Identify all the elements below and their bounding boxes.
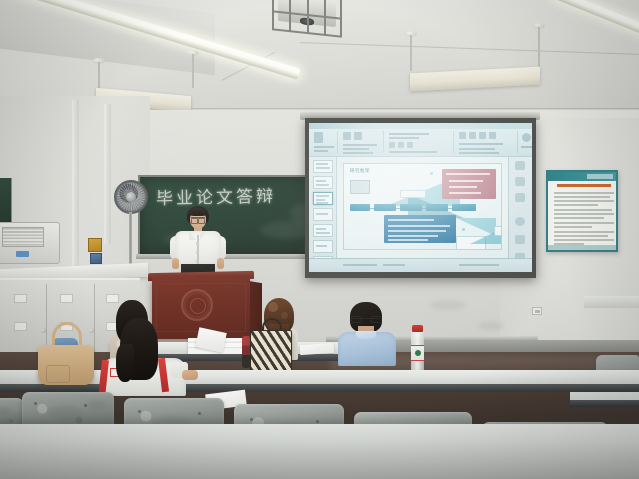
status-view-label bbox=[383, 264, 405, 266]
pane-icon-d[interactable] bbox=[515, 235, 525, 244]
glasses-lens-right bbox=[371, 316, 382, 323]
ribbon-group-font[interactable] bbox=[386, 131, 454, 153]
person-forearm bbox=[182, 370, 198, 380]
cabinet-handle[interactable] bbox=[89, 328, 94, 333]
powerpoint-status-bar bbox=[309, 258, 532, 272]
tan-handbag bbox=[38, 345, 94, 385]
front-desk bbox=[0, 424, 639, 479]
poster-text-line bbox=[554, 209, 612, 211]
poster-footer bbox=[548, 245, 616, 250]
right-desk-far bbox=[584, 296, 639, 308]
electrical-box-yellow bbox=[88, 238, 102, 252]
pane-icon-b[interactable] bbox=[515, 177, 525, 186]
glasses-lens-left bbox=[351, 316, 362, 323]
fan-hub bbox=[126, 192, 136, 202]
poster-text-line bbox=[554, 231, 614, 233]
slide-title: 研究框架 bbox=[350, 168, 370, 174]
poster-text-line bbox=[554, 213, 614, 215]
poster-text-line bbox=[554, 222, 614, 224]
light-hanger-rod bbox=[192, 54, 194, 88]
presenter-collar-left bbox=[189, 231, 196, 240]
podium-crest-emblem bbox=[181, 289, 213, 321]
cage-bar bbox=[307, 0, 309, 34]
slide-thumbnail[interactable] bbox=[313, 176, 333, 189]
fan-mount-pole bbox=[129, 212, 132, 264]
slide-flow-box bbox=[350, 204, 370, 211]
wall-outlet bbox=[532, 307, 542, 315]
blackboard: 毕业论文答辩 bbox=[138, 175, 324, 257]
ribbon-group-clipboard[interactable] bbox=[312, 131, 338, 153]
wall-pilaster-b bbox=[104, 104, 111, 244]
ceiling-projector bbox=[272, 0, 342, 42]
shirt-collar bbox=[356, 331, 376, 339]
slide-thumbnail-pane[interactable] bbox=[309, 157, 337, 258]
powerpoint-ribbon bbox=[309, 123, 532, 157]
slide-flow-box bbox=[400, 204, 422, 211]
cage-bar bbox=[272, 0, 274, 31]
ribbon-group-paragraph[interactable] bbox=[456, 131, 518, 153]
wall-scuff bbox=[478, 322, 504, 330]
poster-text-line bbox=[554, 196, 610, 198]
status-slide-label bbox=[343, 264, 377, 266]
slide-flow-box bbox=[426, 204, 448, 211]
poster-text-line bbox=[554, 200, 614, 202]
poster-text-line bbox=[554, 226, 592, 228]
presenter-forearm-right bbox=[217, 258, 224, 269]
pane-icon-c[interactable] bbox=[515, 193, 525, 202]
audience-mid-right bbox=[334, 302, 398, 364]
air-conditioner-unit bbox=[0, 222, 60, 264]
projection-screen-frame: 研究框架 bbox=[305, 118, 536, 278]
poster-logo-icon bbox=[587, 174, 613, 179]
light-hanger-rod bbox=[538, 27, 540, 71]
ac-badge bbox=[16, 251, 29, 257]
projection-screen: 研究框架 bbox=[309, 123, 532, 272]
person-hair-strand bbox=[116, 344, 134, 382]
ribbon-group-editing[interactable] bbox=[520, 131, 532, 153]
audience-front-left-near bbox=[96, 318, 188, 396]
presenter-collar-right bbox=[200, 231, 207, 240]
shirt-button bbox=[196, 251, 199, 254]
slide-thumbnail[interactable] bbox=[313, 240, 333, 253]
slide-canvas[interactable]: 研究框架 bbox=[343, 163, 502, 250]
presenter-forearm-left bbox=[172, 258, 179, 269]
slide-thumbnail-selected[interactable] bbox=[313, 192, 333, 205]
poster-header bbox=[548, 172, 616, 181]
right-desk-edge bbox=[570, 400, 639, 407]
ribbon-group-slides[interactable] bbox=[340, 131, 384, 153]
ac-vent-grille bbox=[2, 227, 44, 247]
pane-icon-a[interactable] bbox=[515, 161, 525, 170]
wall-scuff bbox=[430, 300, 466, 310]
light-hanger-rod bbox=[410, 35, 412, 71]
classroom-photo: 毕业论文答辩 bbox=[0, 0, 639, 479]
shirt-button bbox=[196, 242, 199, 245]
poster-text-line bbox=[554, 239, 614, 241]
cabinet-label bbox=[60, 294, 73, 303]
task-pane[interactable] bbox=[508, 157, 532, 258]
cabinet-handle[interactable] bbox=[41, 328, 46, 333]
slide-pink-callout bbox=[442, 169, 496, 199]
poster-text-line bbox=[554, 192, 614, 194]
slide-thumbnail[interactable] bbox=[313, 208, 333, 221]
wall-fan bbox=[114, 180, 148, 214]
electrical-box-blue bbox=[90, 253, 102, 264]
glasses-icon bbox=[191, 217, 205, 221]
slide-blue-callout bbox=[384, 215, 456, 243]
share-icon[interactable] bbox=[515, 217, 525, 226]
bottle-logo-icon bbox=[415, 350, 421, 356]
poster-title-bar bbox=[557, 184, 611, 187]
presenter-fringe bbox=[188, 208, 208, 216]
handbag-pocket bbox=[46, 365, 70, 383]
presenter bbox=[170, 206, 226, 280]
slide-label-card bbox=[400, 190, 426, 198]
cage-bar bbox=[324, 0, 326, 36]
slide-flow-box bbox=[452, 204, 476, 211]
wall-poster bbox=[546, 170, 618, 252]
slide-placeholder-box bbox=[350, 180, 370, 194]
ribbon-tab-row[interactable] bbox=[309, 123, 532, 129]
slide-thumbnail[interactable] bbox=[313, 160, 333, 173]
poster-text-line bbox=[554, 204, 598, 206]
shirt-button bbox=[196, 260, 199, 263]
chalk-tray bbox=[136, 254, 328, 259]
cage-bar bbox=[289, 0, 291, 32]
cabinet-label bbox=[14, 322, 27, 331]
slide-thumbnail[interactable] bbox=[313, 224, 333, 237]
poster-text-line bbox=[554, 235, 608, 237]
poster-text-line bbox=[554, 217, 604, 219]
cabinet-label bbox=[14, 294, 27, 303]
slide-flow-box bbox=[374, 204, 396, 211]
bottle-cap bbox=[412, 325, 423, 332]
